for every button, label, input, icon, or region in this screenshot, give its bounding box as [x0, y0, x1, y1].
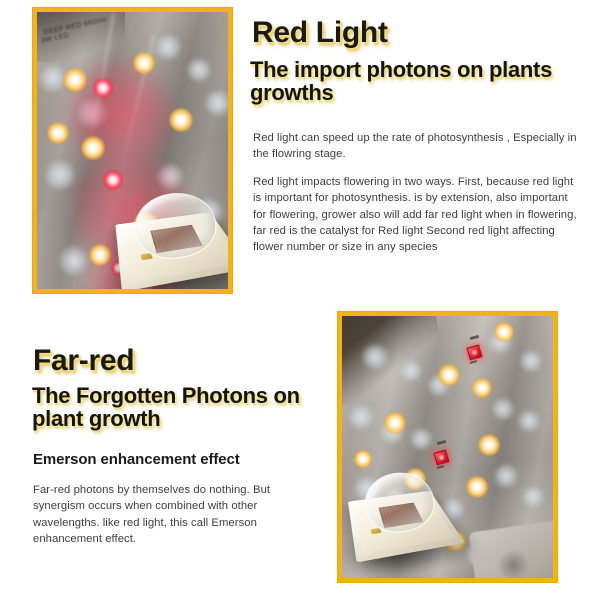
led-dot	[187, 58, 211, 82]
led-dot	[354, 450, 372, 468]
red-light-paragraph-2: Red light impacts flowering in two ways.…	[253, 174, 578, 256]
led-dot	[472, 378, 492, 398]
led-dot	[362, 344, 388, 370]
led-dot	[205, 90, 228, 116]
led-dot	[348, 404, 374, 430]
red-light-paragraph-1: Red light can speed up the rate of photo…	[253, 130, 578, 163]
led-dot	[63, 68, 87, 92]
red-light-title: Red Light	[252, 16, 388, 50]
led-dot	[518, 410, 540, 432]
led-dot	[522, 486, 544, 508]
far-red-led-package	[352, 474, 448, 566]
far-red-photo	[342, 316, 553, 578]
led-dot	[520, 350, 542, 372]
led-dot	[494, 322, 514, 342]
led-dot	[400, 360, 422, 382]
red-light-body: Red light can speed up the rate of photo…	[253, 130, 578, 256]
led-dot	[384, 412, 406, 434]
led-dot	[466, 476, 488, 498]
far-red-photo-frame	[338, 312, 557, 582]
far-red-subtitle: The Forgotten Photons on plant growth	[32, 384, 322, 431]
led-dot	[169, 108, 193, 132]
red-light-photo: DEEP RED 660nm 3W LED	[37, 12, 228, 289]
led-dot	[155, 34, 181, 60]
led-dot	[89, 244, 111, 266]
red-light-photo-frame: DEEP RED 660nm 3W LED	[33, 8, 232, 293]
led-dot	[492, 398, 514, 420]
far-red-paragraph-1: Far-red photons by themselves do nothing…	[33, 482, 305, 548]
led-dot	[47, 122, 69, 144]
red-led-package	[119, 194, 228, 289]
red-light-subtitle: The import photons on plants growths	[250, 58, 570, 105]
led-dot	[410, 428, 432, 450]
led-dot	[438, 364, 460, 386]
led-dot	[494, 464, 518, 488]
far-red-title: Far-red	[33, 344, 134, 378]
page-root: DEEP RED 660nm 3W LED Red Light The impo…	[0, 0, 600, 600]
far-red-heading-3: Emerson enhancement effect	[33, 451, 240, 468]
far-red-body: Far-red photons by themselves do nothing…	[33, 482, 305, 548]
led-dot	[478, 434, 500, 456]
led-dot	[45, 160, 75, 190]
led-dot	[81, 136, 105, 160]
